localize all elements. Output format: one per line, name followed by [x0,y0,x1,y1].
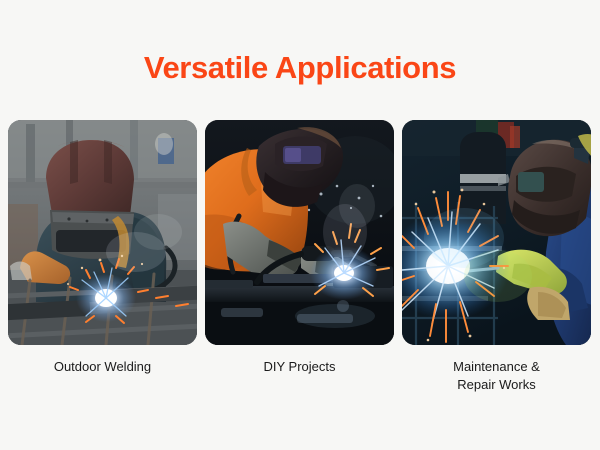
maintenance-repair-photo [402,120,591,345]
card-caption: Outdoor Welding [8,358,197,376]
diy-projects-photo [205,120,394,345]
application-card[interactable]: Maintenance & Repair Works [402,120,591,394]
card-caption-line-1: DIY Projects [205,358,394,376]
card-caption-line-2: Repair Works [402,376,591,394]
outdoor-welding-photo [8,120,197,345]
card-caption-line-1: Maintenance & [402,358,591,376]
application-card[interactable]: Outdoor Welding [8,120,197,394]
page-title: Versatile Applications [0,50,600,86]
card-caption: Maintenance & Repair Works [402,358,591,394]
application-card[interactable]: DIY Projects [205,120,394,394]
versatile-applications-banner: Versatile Applications [0,0,600,450]
card-caption-line-1: Outdoor Welding [8,358,197,376]
application-card-list: Outdoor Welding [8,120,592,394]
card-caption: DIY Projects [205,358,394,376]
